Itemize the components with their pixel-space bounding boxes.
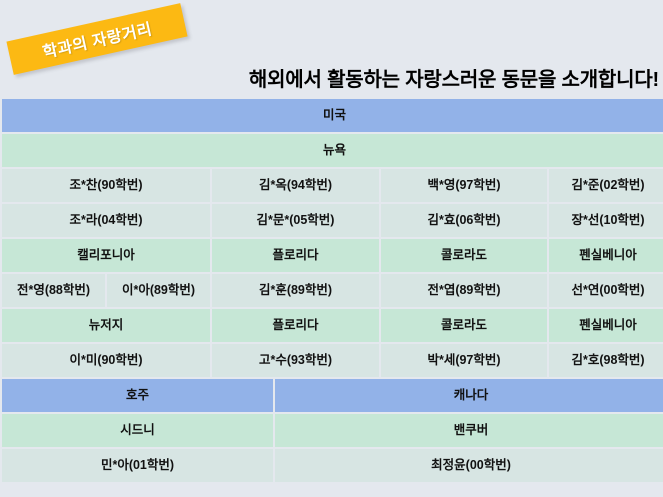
ribbon-label: 학과의 자랑거리 — [40, 15, 154, 63]
region-header-california: 캘리포니아 — [2, 239, 210, 272]
region-header-colorado-2: 콜로라도 — [381, 309, 547, 342]
region-header-florida-2: 플로리다 — [212, 309, 379, 342]
person-cell: 김*호(98학번) — [549, 344, 663, 377]
person-cell: 조*라(04학번) — [2, 204, 210, 237]
page-root: 학과의 자랑거리 해외에서 활동하는 자랑스러운 동문을 소개합니다! 미국 뉴… — [0, 0, 663, 497]
country-header-canada: 캐나다 — [275, 379, 663, 412]
section-ribbon-badge: 학과의 자랑거리 — [6, 3, 187, 75]
person-cell: 전*엽(89학번) — [381, 274, 547, 307]
person-cell: 전*영(88학번) — [2, 274, 105, 307]
alumni-table: 미국 뉴욕 조*찬(90학번) 김*옥(94학번) 백*영(97학번) 김*준(… — [0, 97, 663, 484]
region-header-new-york: 뉴욕 — [2, 134, 663, 167]
table-row-regions-2: 뉴저지 플로리다 콜로라도 펜실베니아 — [2, 309, 663, 342]
region-header-pennsylvania-2: 펜실베니아 — [549, 309, 663, 342]
person-cell: 김*옥(94학번) — [212, 169, 379, 202]
person-cell: 고*수(93학번) — [212, 344, 379, 377]
table-row-new-york-2: 조*라(04학번) 김*문*(05학번) 김*효(06학번) 장*선(10학번) — [2, 204, 663, 237]
region-header-pennsylvania: 펜실베니아 — [549, 239, 663, 272]
table-row-regions-1: 캘리포니아 플로리다 콜로라도 펜실베니아 — [2, 239, 663, 272]
person-cell: 조*찬(90학번) — [2, 169, 210, 202]
person-cell: 장*선(10학번) — [549, 204, 663, 237]
table-row-country-australia-canada: 호주 캐나다 — [2, 379, 663, 412]
person-cell: 최정윤(00학번) — [275, 449, 663, 482]
table-row-country-usa: 미국 — [2, 99, 663, 132]
table-row-people-1: 전*영(88학번) 이*아(89학번) 김*훈(89학번) 전*엽(89학번) … — [2, 274, 663, 307]
person-cell: 김*문*(05학번) — [212, 204, 379, 237]
person-cell: 김*훈(89학번) — [212, 274, 379, 307]
region-header-new-jersey: 뉴저지 — [2, 309, 210, 342]
region-header-colorado: 콜로라도 — [381, 239, 547, 272]
country-header-australia: 호주 — [2, 379, 273, 412]
region-header-florida: 플로리다 — [212, 239, 379, 272]
table-row-region-new-york: 뉴욕 — [2, 134, 663, 167]
region-header-vancouver: 밴쿠버 — [275, 414, 663, 447]
table-row-region-sydney-vancouver: 시드니 밴쿠버 — [2, 414, 663, 447]
page-header: 학과의 자랑거리 해외에서 활동하는 자랑스러운 동문을 소개합니다! — [0, 0, 663, 97]
region-header-sydney: 시드니 — [2, 414, 273, 447]
person-cell: 이*미(90학번) — [2, 344, 210, 377]
person-cell: 이*아(89학번) — [107, 274, 210, 307]
person-cell: 민*아(01학번) — [2, 449, 273, 482]
person-cell: 백*영(97학번) — [381, 169, 547, 202]
table-row-people-australia-canada: 민*아(01학번) 최정윤(00학번) — [2, 449, 663, 482]
person-cell: 박*세(97학번) — [381, 344, 547, 377]
person-cell: 김*준(02학번) — [549, 169, 663, 202]
table-row-people-2: 이*미(90학번) 고*수(93학번) 박*세(97학번) 김*호(98학번) — [2, 344, 663, 377]
person-cell: 선*연(00학번) — [549, 274, 663, 307]
person-cell: 김*효(06학번) — [381, 204, 547, 237]
page-title: 해외에서 활동하는 자랑스러운 동문을 소개합니다! — [249, 63, 659, 92]
table-row-new-york-1: 조*찬(90학번) 김*옥(94학번) 백*영(97학번) 김*준(02학번) — [2, 169, 663, 202]
country-header-usa: 미국 — [2, 99, 663, 132]
